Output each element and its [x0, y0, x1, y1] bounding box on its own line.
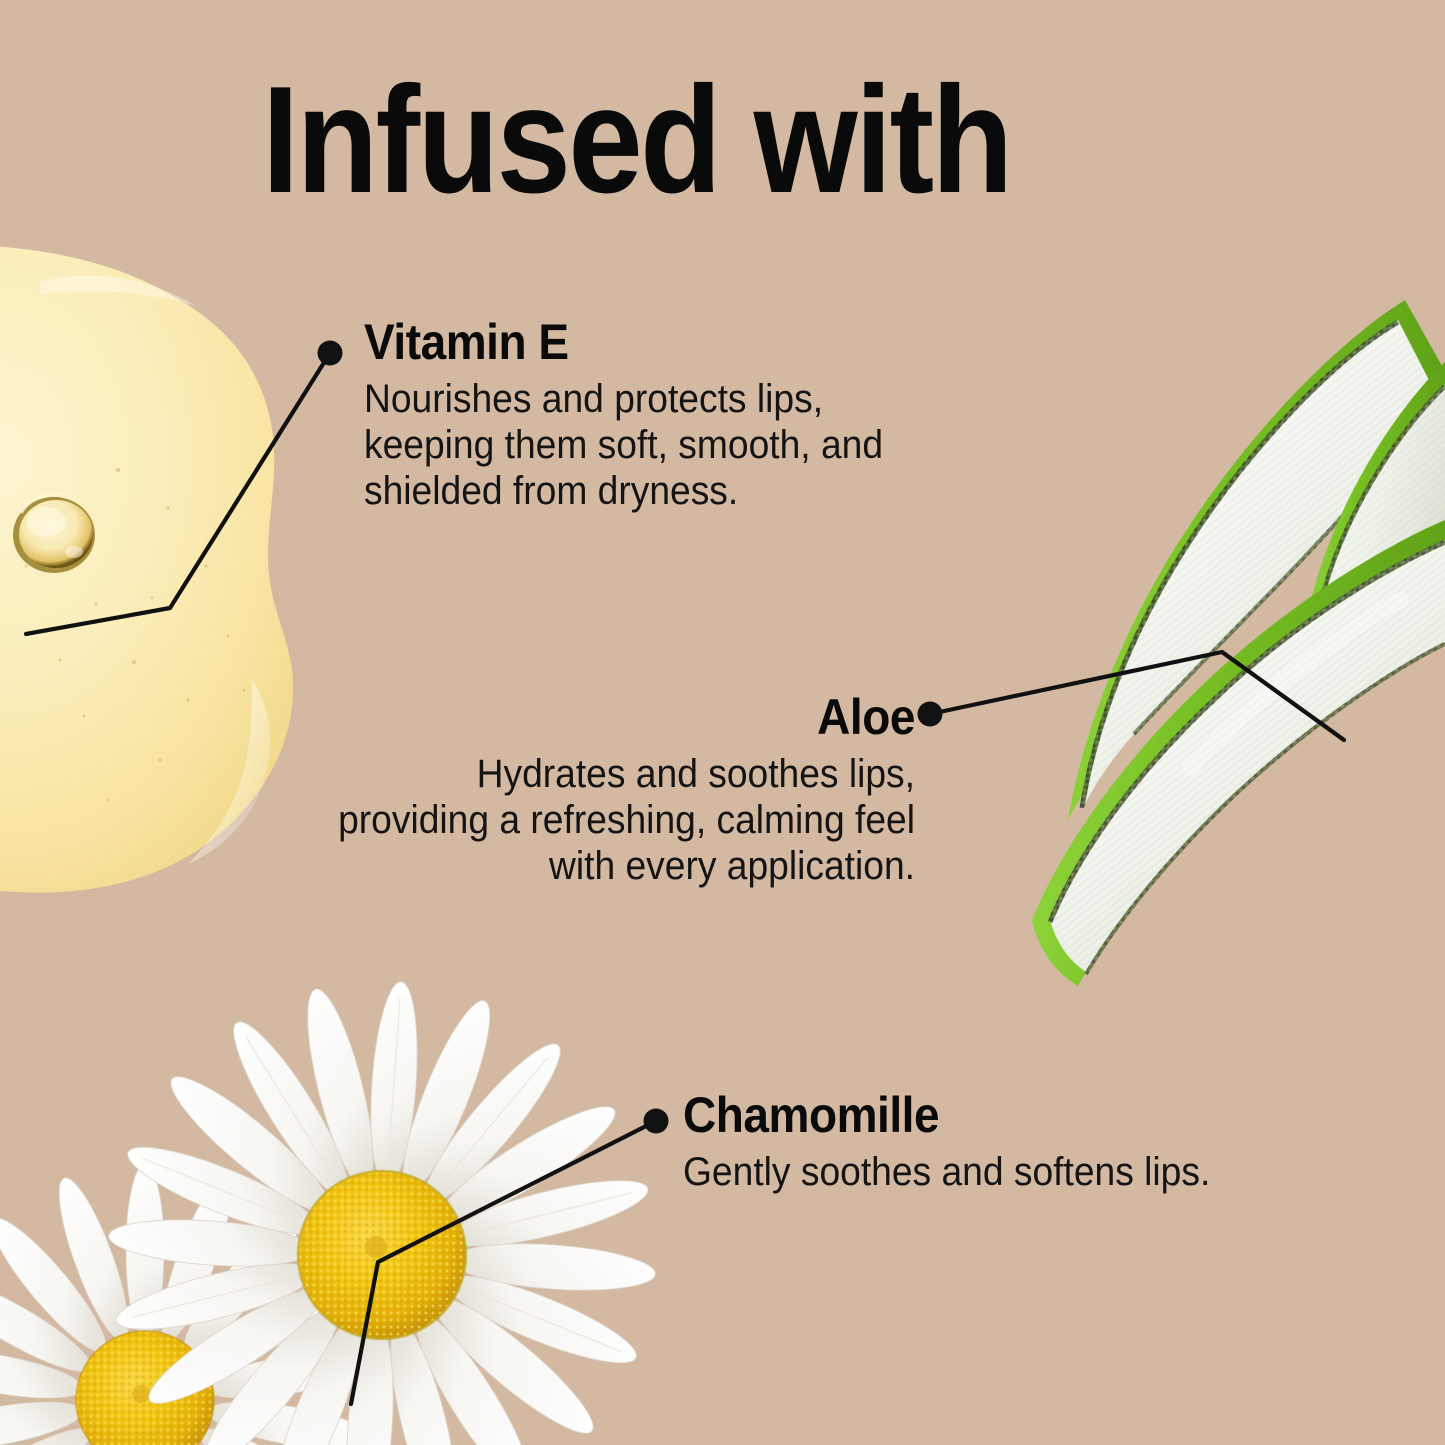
callout-body-chamomille: Gently soothes and softens lips. — [683, 1149, 1210, 1195]
callout-vitamin-e: Vitamin E Nourishes and protects lips, k… — [364, 314, 922, 514]
callout-chamomille: Chamomille Gently soothes and softens li… — [683, 1087, 1250, 1195]
callout-body-vitamin-e: Nourishes and protects lips, keeping the… — [364, 376, 883, 514]
infographic-canvas: Infused with Vitamin E Nourishes and pro… — [0, 0, 1445, 1445]
callout-heading-vitamin-e: Vitamin E — [364, 314, 877, 370]
callout-heading-chamomille: Chamomille — [683, 1087, 1205, 1143]
flower-center-large — [298, 1171, 466, 1339]
callout-body-aloe: Hydrates and soothes lips, providing a r… — [301, 751, 915, 889]
callout-aloe: Aloe Hydrates and soothes lips, providin… — [255, 689, 915, 889]
callout-heading-aloe: Aloe — [308, 689, 915, 745]
page-title: Infused with — [262, 64, 1011, 216]
